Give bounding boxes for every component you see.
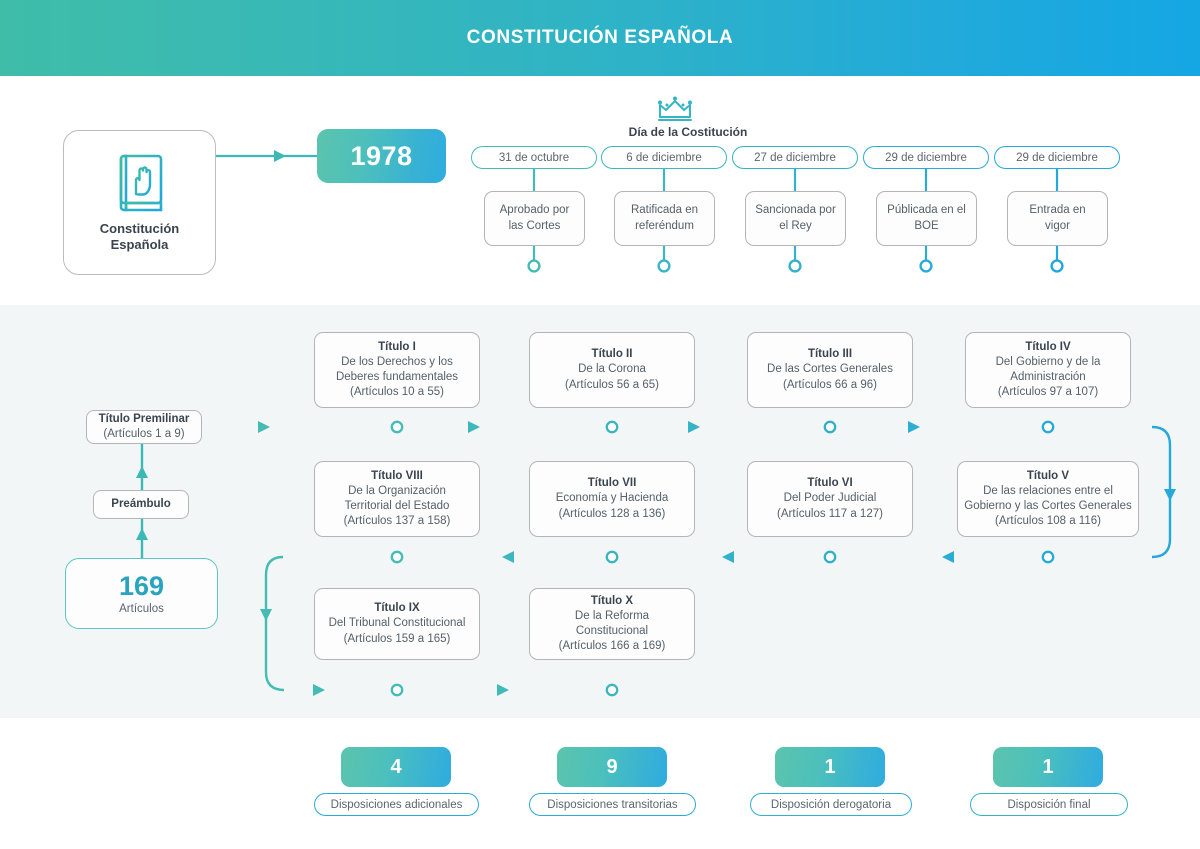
titulo-card-articles: (Artículos 159 a 165) xyxy=(344,632,451,647)
titulo-card-articles: (Artículos 56 a 65) xyxy=(565,378,659,393)
articulos-count: 169 xyxy=(119,573,164,600)
year-badge: 1978 xyxy=(317,129,446,183)
titulo-card-desc-2: Territorial del Estado xyxy=(345,499,450,514)
disposicion-count: 9 xyxy=(606,756,617,779)
titulo-card-desc-1: De la Organización xyxy=(348,484,446,499)
titulo-card-desc-2: Constitucional xyxy=(576,624,648,639)
preambulo-box: Preámbulo xyxy=(93,490,189,519)
event-line-2: el Rey xyxy=(779,219,812,234)
event-line-1: Ratificada en xyxy=(631,203,698,218)
titulo-card-title: Título VII xyxy=(588,476,637,491)
titulo-card-2: Título II De la Corona (Artículos 56 a 6… xyxy=(529,332,695,408)
constitucion-card-caption: Constitución Española xyxy=(100,221,179,254)
titulo-card-title: Título III xyxy=(808,347,852,362)
disposicion-badge-4: 1 xyxy=(993,747,1103,787)
date-pill-2: 6 de diciembre xyxy=(601,146,727,169)
crown-icon xyxy=(655,96,695,122)
preliminar-title: Título Premilinar xyxy=(99,412,190,427)
titulo-card-8: Título V De las relaciones entre el Gobi… xyxy=(957,461,1139,537)
titulo-card-5: Título VIII De la Organización Territori… xyxy=(314,461,480,537)
titulo-card-desc-2: Administración xyxy=(1010,370,1085,385)
titulo-card-desc-1: Del Gobierno y de la xyxy=(996,355,1101,370)
timeline-event-box-5: Entrada en vigor xyxy=(1007,191,1108,246)
event-line-1: Aprobado por xyxy=(500,203,570,218)
disposicion-count: 1 xyxy=(1042,756,1053,779)
caption-line-1: Constitución xyxy=(100,221,179,237)
disposicion-badge-3: 1 xyxy=(775,747,885,787)
titulo-card-desc-1: De los Derechos y los xyxy=(341,355,453,370)
holiday-label: Día de la Costitución xyxy=(588,125,788,139)
infographic-root: CONSTITUCIÓN ESPAÑOLA xyxy=(0,0,1200,849)
event-line-2: vigor xyxy=(1045,219,1070,234)
timeline-event-box-2: Ratificada en referéndum xyxy=(614,191,715,246)
caption-line-2: Española xyxy=(100,237,179,253)
titulo-card-title: Título IX xyxy=(374,601,419,616)
preliminar-articles: (Artículos 1 a 9) xyxy=(103,427,184,442)
page-title: CONSTITUCIÓN ESPAÑOLA xyxy=(467,27,734,49)
date-pill-3: 27 de diciembre xyxy=(732,146,858,169)
date-pill-5: 29 de diciembre xyxy=(994,146,1120,169)
titulo-card-desc-2: Deberes fundamentales xyxy=(336,370,458,385)
event-line-1: Públicada en el xyxy=(887,203,966,218)
titulo-card-desc-1: Del Tribunal Constitucional xyxy=(329,616,466,631)
titulo-card-title: Título IV xyxy=(1025,340,1070,355)
titulo-card-articles: (Artículos 66 a 96) xyxy=(783,378,877,393)
year-value: 1978 xyxy=(350,141,412,172)
event-line-2: las Cortes xyxy=(509,219,561,234)
disposicion-label-4: Disposición final xyxy=(970,793,1128,816)
preambulo-label: Preámbulo xyxy=(111,497,170,512)
titulo-card-title: Título VIII xyxy=(371,469,423,484)
disposicion-label-2: Disposiciones transitorias xyxy=(529,793,696,816)
timeline-event-box-3: Sancionada por el Rey xyxy=(745,191,846,246)
titulo-card-articles: (Artículos 128 a 136) xyxy=(559,507,666,522)
titulo-preliminar-box: Título Premilinar (Artículos 1 a 9) xyxy=(86,410,202,444)
date-pill-4: 29 de diciembre xyxy=(863,146,989,169)
titulo-card-6: Título VII Economía y Hacienda (Artículo… xyxy=(529,461,695,537)
articulos-label: Artículos xyxy=(119,603,164,615)
titulo-card-articles: (Artículos 10 a 55) xyxy=(350,385,444,400)
titulo-card-3: Título III De las Cortes Generales (Artí… xyxy=(747,332,913,408)
disposicion-count: 1 xyxy=(824,756,835,779)
titulo-card-4: Título IV Del Gobierno y de la Administr… xyxy=(965,332,1131,408)
articulos-count-box: 169 Artículos xyxy=(65,558,218,629)
titulo-card-title: Título VI xyxy=(807,476,852,491)
titulo-card-articles: (Artículos 137 a 158) xyxy=(344,514,451,529)
event-line-2: referéndum xyxy=(635,219,694,234)
titulo-card-title: Título V xyxy=(1027,469,1069,484)
timeline-event-box-4: Públicada en el BOE xyxy=(876,191,977,246)
titulo-card-desc-1: De las Cortes Generales xyxy=(767,362,893,377)
timeline-event-box-1: Aprobado por las Cortes xyxy=(484,191,585,246)
event-line-1: Entrada en xyxy=(1029,203,1085,218)
titulo-card-title: Título X xyxy=(591,594,633,609)
titulo-card-1: Título I De los Derechos y los Deberes f… xyxy=(314,332,480,408)
header-banner: CONSTITUCIÓN ESPAÑOLA xyxy=(0,0,1200,76)
titulo-card-desc-1: De las relaciones entre el xyxy=(983,484,1113,499)
titulo-card-desc-1: Del Poder Judicial xyxy=(784,491,877,506)
titulo-card-9: Título IX Del Tribunal Constitucional (A… xyxy=(314,588,480,660)
disposicion-label-3: Disposición derogatoria xyxy=(750,793,912,816)
disposicion-badge-1: 4 xyxy=(341,747,451,787)
disposicion-badge-2: 9 xyxy=(557,747,667,787)
titulo-card-articles: (Artículos 97 a 107) xyxy=(998,385,1098,400)
titulo-card-desc-1: De la Corona xyxy=(578,362,646,377)
date-pill-1: 31 de octubre xyxy=(471,146,597,169)
event-line-1: Sancionada por xyxy=(755,203,836,218)
titulo-card-articles: (Artículos 108 a 116) xyxy=(995,514,1101,529)
titulo-card-title: Título II xyxy=(592,347,633,362)
disposicion-count: 4 xyxy=(390,756,401,779)
titulo-card-10: Título X De la Reforma Constitucional (A… xyxy=(529,588,695,660)
book-hand-icon xyxy=(112,152,168,214)
titulo-card-title: Título I xyxy=(378,340,416,355)
constitucion-card: Constitución Española xyxy=(63,130,216,275)
titulo-card-articles: (Artículos 166 a 169) xyxy=(559,639,666,654)
titulo-card-desc-1: Economía y Hacienda xyxy=(556,491,669,506)
event-line-2: BOE xyxy=(914,219,938,234)
titulo-card-articles: (Artículos 117 a 127) xyxy=(777,507,883,522)
titulo-card-desc-2: Gobierno y las Cortes Generales xyxy=(964,499,1131,514)
titulo-card-desc-1: De la Reforma xyxy=(575,609,649,624)
disposicion-label-1: Disposiciones adicionales xyxy=(314,793,479,816)
titulo-card-7: Título VI Del Poder Judicial (Artículos … xyxy=(747,461,913,537)
